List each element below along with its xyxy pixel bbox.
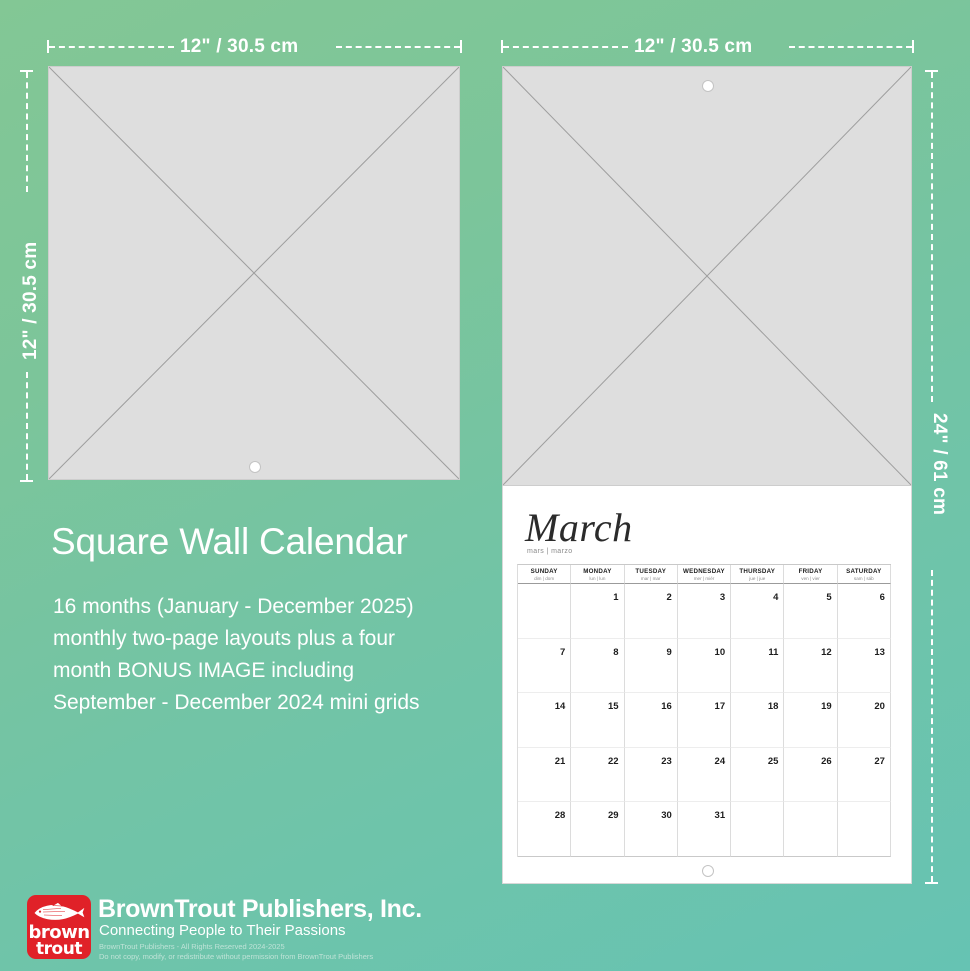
calendar-day-cell[interactable] (784, 802, 837, 857)
weekday-name-localized: sam | sáb (838, 576, 890, 581)
left-width-guide-cap-end (460, 40, 462, 53)
calendar-day-number: 9 (667, 647, 672, 658)
calendar-day-cell[interactable]: 21 (518, 748, 571, 803)
calendar-day-number: 31 (715, 810, 726, 821)
left-panel-diagonals-icon (49, 67, 459, 479)
weekday-name-localized: ven | vier (784, 576, 836, 581)
calendar-day-number: 1 (613, 592, 618, 603)
calendar-day-cell[interactable]: 12 (784, 639, 837, 694)
calendar-week-row: 78910111213 (518, 639, 891, 694)
calendar-day-number: 15 (608, 701, 619, 712)
calendar-day-cell[interactable]: 3 (678, 584, 731, 639)
left-height-guide-cap-bottom (20, 480, 33, 482)
calendar-day-cell[interactable] (518, 584, 571, 639)
calendar-day-cell[interactable]: 29 (571, 802, 624, 857)
right-width-guide-dash-right (789, 46, 912, 48)
calendar-day-cell[interactable]: 31 (678, 802, 731, 857)
calendar-weekday-header: FRIDAYven | vier (784, 565, 837, 584)
product-description-line: monthly two-page layouts plus a four (53, 623, 503, 655)
calendar-day-number: 6 (880, 592, 885, 603)
weekday-name-localized: lun | lun (571, 576, 623, 581)
calendar-day-cell[interactable]: 9 (625, 639, 678, 694)
calendar-day-cell[interactable]: 24 (678, 748, 731, 803)
calendar-day-cell[interactable]: 5 (784, 584, 837, 639)
right-panel-hole-punch-icon (702, 80, 714, 92)
right-panel-diagonals-icon (503, 67, 911, 485)
calendar-day-number: 27 (874, 756, 885, 767)
calendar-weekday-header: THURSDAYjue | jue (731, 565, 784, 584)
product-description-line: 16 months (January - December 2025) (53, 591, 503, 623)
calendar-weekday-header: SUNDAYdim | dom (518, 565, 571, 584)
calendar-day-cell[interactable] (838, 802, 891, 857)
calendar-day-number: 2 (667, 592, 672, 603)
weekday-name: SUNDAY (518, 568, 570, 575)
calendar-day-number: 22 (608, 756, 619, 767)
right-width-guide-cap-end (912, 40, 914, 53)
right-height-guide-cap-bottom (925, 882, 938, 884)
calendar-day-number: 20 (874, 701, 885, 712)
legal-line-two: Do not copy, modify, or redistribute wit… (99, 952, 373, 962)
calendar-day-cell[interactable]: 18 (731, 693, 784, 748)
calendar-week-row: 123456 (518, 584, 891, 639)
calendar-day-cell[interactable]: 1 (571, 584, 624, 639)
calendar-day-cell[interactable]: 6 (838, 584, 891, 639)
left-width-guide-dash-left (49, 46, 174, 48)
calendar-day-number: 25 (768, 756, 779, 767)
weekday-name-localized: dim | dom (518, 576, 570, 581)
right-height-label: 24" / 61 cm (929, 413, 950, 515)
calendar-day-cell[interactable]: 15 (571, 693, 624, 748)
right-cover-image-panel (502, 66, 912, 486)
calendar-week-row: 28293031 (518, 802, 891, 857)
calendar-day-number: 4 (773, 592, 778, 603)
calendar-day-number: 16 (661, 701, 672, 712)
calendar-day-number: 30 (661, 810, 672, 821)
calendar-day-cell[interactable]: 23 (625, 748, 678, 803)
page-title: Square Wall Calendar (51, 521, 408, 563)
calendar-day-cell[interactable]: 16 (625, 693, 678, 748)
calendar-week-row: 21222324252627 (518, 748, 891, 803)
weekday-name: SATURDAY (838, 568, 890, 575)
calendar-day-cell[interactable] (731, 802, 784, 857)
calendar-page-hole-punch-icon (702, 865, 714, 877)
left-panel-hole-punch-icon (249, 461, 261, 473)
left-height-guide-dash-top (26, 72, 28, 192)
left-width-label: 12" / 30.5 cm (180, 36, 298, 58)
calendar-day-cell[interactable]: 30 (625, 802, 678, 857)
calendar-day-number: 12 (821, 647, 832, 658)
calendar-day-cell[interactable]: 22 (571, 748, 624, 803)
company-name: BrownTrout Publishers, Inc. (98, 895, 422, 924)
calendar-day-cell[interactable]: 2 (625, 584, 678, 639)
weekday-name: MONDAY (571, 568, 623, 575)
calendar-day-number: 8 (613, 647, 618, 658)
calendar-day-number: 10 (715, 647, 726, 658)
calendar-day-cell[interactable]: 27 (838, 748, 891, 803)
company-tagline: Connecting People to Their Passions (99, 922, 346, 939)
calendar-day-cell[interactable]: 25 (731, 748, 784, 803)
calendar-week-rows: 1234567891011121314151617181920212223242… (518, 584, 891, 857)
calendar-weekday-header: WEDNESDAYmer | miér (678, 565, 731, 584)
left-height-guide-dash-bottom (26, 372, 28, 480)
calendar-day-cell[interactable]: 7 (518, 639, 571, 694)
calendar-month-localized: mars | marzo (527, 548, 573, 555)
calendar-page: March mars | marzo SUNDAYdim | domMONDAY… (502, 486, 912, 884)
calendar-day-number: 14 (555, 701, 566, 712)
calendar-grid: SUNDAYdim | domMONDAYlun | lunTUESDAYmar… (517, 564, 891, 857)
calendar-day-cell[interactable]: 26 (784, 748, 837, 803)
calendar-month-title: March (525, 504, 633, 551)
calendar-day-number: 23 (661, 756, 672, 767)
weekday-name: TUESDAY (625, 568, 677, 575)
weekday-name-localized: mar | mar (625, 576, 677, 581)
right-height-guide-dash-bottom (931, 570, 933, 882)
browntrout-logo: brown trout (27, 895, 91, 959)
calendar-day-number: 13 (874, 647, 885, 658)
calendar-day-cell[interactable]: 8 (571, 639, 624, 694)
calendar-week-row: 14151617181920 (518, 693, 891, 748)
right-width-label: 12" / 30.5 cm (634, 36, 752, 58)
calendar-day-cell[interactable]: 11 (731, 639, 784, 694)
weekday-name: THURSDAY (731, 568, 783, 575)
product-description: 16 months (January - December 2025)month… (53, 591, 503, 719)
calendar-day-cell[interactable]: 14 (518, 693, 571, 748)
calendar-day-number: 19 (821, 701, 832, 712)
calendar-day-cell[interactable]: 10 (678, 639, 731, 694)
calendar-weekday-header: MONDAYlun | lun (571, 565, 624, 584)
logo-line-two: trout (27, 939, 91, 959)
calendar-day-number: 21 (555, 756, 566, 767)
left-height-label: 12" / 30.5 cm (20, 242, 41, 360)
calendar-day-number: 29 (608, 810, 619, 821)
left-width-guide-dash-right (336, 46, 460, 48)
trout-fish-icon (31, 900, 87, 924)
calendar-day-number: 28 (555, 810, 566, 821)
calendar-day-number: 5 (826, 592, 831, 603)
calendar-day-cell[interactable]: 4 (731, 584, 784, 639)
calendar-day-number: 18 (768, 701, 779, 712)
weekday-name-localized: jue | jue (731, 576, 783, 581)
calendar-day-number: 24 (715, 756, 726, 767)
calendar-day-cell[interactable]: 19 (784, 693, 837, 748)
calendar-day-cell[interactable]: 20 (838, 693, 891, 748)
calendar-weekday-header: SATURDAYsam | sáb (838, 565, 891, 584)
right-width-guide-dash-left (503, 46, 628, 48)
legal-line-one: BrownTrout Publishers - All Rights Reser… (99, 942, 285, 952)
right-height-label-wrap: 24" / 61 cm (928, 413, 950, 515)
product-spec-graphic: 12" / 30.5 cm 12" / 30.5 cm 12" / 30.5 c… (0, 0, 970, 971)
calendar-day-number: 3 (720, 592, 725, 603)
weekday-name-localized: mer | miér (678, 576, 730, 581)
right-height-guide-dash-top (931, 72, 933, 402)
product-description-line: month BONUS IMAGE including (53, 655, 503, 687)
calendar-day-cell[interactable]: 13 (838, 639, 891, 694)
calendar-day-number: 26 (821, 756, 832, 767)
calendar-weekday-header-row: SUNDAYdim | domMONDAYlun | lunTUESDAYmar… (518, 565, 891, 584)
calendar-day-cell[interactable]: 28 (518, 802, 571, 857)
calendar-day-number: 7 (560, 647, 565, 658)
calendar-weekday-header: TUESDAYmar | mar (625, 565, 678, 584)
calendar-day-number: 11 (768, 647, 778, 658)
left-height-label-wrap: 12" / 30.5 cm (20, 242, 42, 360)
product-description-line: September - December 2024 mini grids (53, 687, 503, 719)
left-cover-panel (48, 66, 460, 480)
calendar-day-cell[interactable]: 17 (678, 693, 731, 748)
weekday-name: WEDNESDAY (678, 568, 730, 575)
weekday-name: FRIDAY (784, 568, 836, 575)
calendar-day-number: 17 (715, 701, 726, 712)
